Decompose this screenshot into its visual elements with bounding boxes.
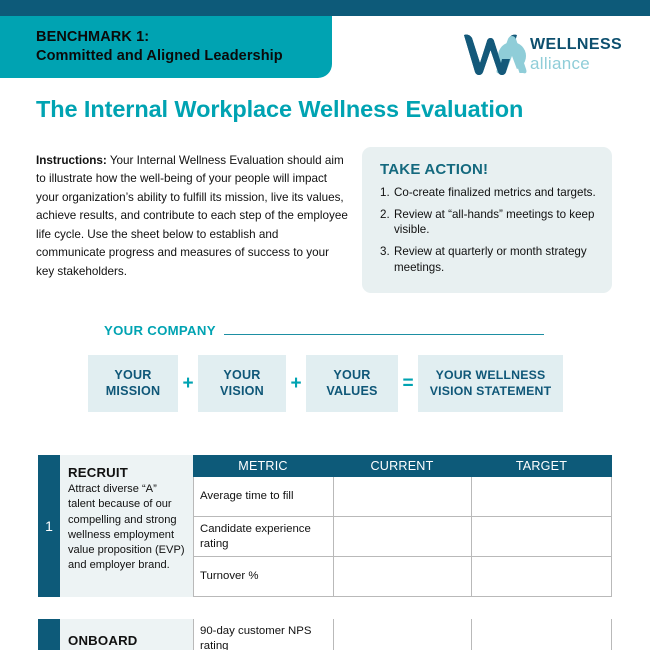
column-header-current: CURRENT (333, 455, 471, 477)
instructions-paragraph: Instructions: Your Internal Wellness Eva… (36, 152, 348, 281)
stage-blurb: Attract diverse “A” talent because of ou… (68, 482, 185, 574)
list-item-number: 2. (380, 207, 394, 238)
table-row: Candidate experience rating (193, 517, 612, 557)
your-vision-line2: VISION (220, 384, 264, 398)
take-action-panel: TAKE ACTION! 1. Co-create finalized metr… (362, 147, 612, 293)
stage-name: RECRUIT (68, 465, 185, 480)
list-item-number: 3. (380, 244, 394, 275)
column-header-metric: METRIC (193, 455, 333, 477)
metrics-grid: METRIC CURRENT TARGET Average time to fi… (193, 455, 612, 597)
list-item: 2. Review at “all-hands” meetings to kee… (380, 207, 596, 238)
stage-number: 1 (38, 455, 60, 597)
list-item: 1. Co-create finalized metrics and targe… (380, 185, 596, 201)
current-value-cell[interactable] (334, 517, 472, 557)
stage-number (38, 619, 60, 650)
list-item-text: Co-create finalized metrics and targets. (394, 185, 596, 201)
target-value-cell[interactable] (472, 517, 612, 557)
your-company-label: YOUR COMPANY (104, 323, 216, 338)
plus-operator-1: + (178, 355, 198, 412)
worksheet-page: BENCHMARK 1: Committed and Aligned Leade… (0, 0, 650, 650)
target-value-cell[interactable] (472, 477, 612, 517)
take-action-list: 1. Co-create finalized metrics and targe… (380, 185, 596, 275)
column-header-target: TARGET (471, 455, 612, 477)
wellness-alliance-logo: WELLNESS alliance (462, 32, 614, 78)
top-accent-bar (0, 0, 650, 16)
your-company-row: YOUR COMPANY (104, 323, 544, 338)
your-mission-line2: MISSION (106, 384, 161, 398)
stage-name: ONBOARD (68, 633, 185, 648)
wellness-vision-equation: YOUR MISSION + YOUR VISION + YOUR VALUES… (88, 355, 563, 412)
your-values-box: YOUR VALUES (306, 355, 398, 412)
metrics-grid: 90-day customer NPS rating (193, 619, 612, 650)
wellness-vision-line1: YOUR WELLNESS (436, 368, 546, 382)
metric-name-cell: 90-day customer NPS rating (194, 619, 334, 650)
your-vision-box: YOUR VISION (198, 355, 286, 412)
stage-description-cell: ONBOARD (60, 619, 193, 650)
stage-block-onboard: ONBOARD 90-day customer NPS rating (38, 619, 612, 650)
current-value-cell[interactable] (334, 619, 472, 650)
list-item-number: 1. (380, 185, 394, 201)
metric-name-cell: Turnover % (194, 557, 334, 597)
your-values-line2: VALUES (326, 384, 377, 398)
metric-name-cell: Average time to fill (194, 477, 334, 517)
your-company-input[interactable] (224, 334, 544, 335)
metrics-table: 1 RECRUIT Attract diverse “A” talent bec… (38, 455, 612, 650)
table-row: Average time to fill (193, 477, 612, 517)
logo-wellness-text: WELLNESS (530, 37, 622, 53)
your-vision-line1: YOUR (223, 368, 260, 382)
table-row: 90-day customer NPS rating (193, 619, 612, 650)
wellness-vision-statement-box: YOUR WELLNESS VISION STATEMENT (418, 355, 563, 412)
instructions-body: Your Internal Wellness Evaluation should… (36, 154, 348, 278)
table-row: Turnover % (193, 557, 612, 597)
plus-operator-2: + (286, 355, 306, 412)
your-values-line1: YOUR (333, 368, 370, 382)
equals-operator: = (398, 355, 418, 412)
current-value-cell[interactable] (334, 477, 472, 517)
metrics-header-row: METRIC CURRENT TARGET (193, 455, 612, 477)
list-item-text: Review at “all-hands” meetings to keep v… (394, 207, 596, 238)
target-value-cell[interactable] (472, 557, 612, 597)
your-mission-line1: YOUR (114, 368, 151, 382)
benchmark-title: Committed and Aligned Leadership (36, 47, 283, 66)
wa-monogram-icon (462, 32, 530, 76)
metric-name-cell: Candidate experience rating (194, 517, 334, 557)
wellness-vision-line2: VISION STATEMENT (430, 384, 552, 398)
page-title: The Internal Workplace Wellness Evaluati… (36, 96, 523, 123)
stage-description-cell: RECRUIT Attract diverse “A” talent becau… (60, 455, 193, 597)
stage-block-recruit: 1 RECRUIT Attract diverse “A” talent bec… (38, 455, 612, 597)
logo-alliance-text: alliance (530, 55, 622, 72)
logo-wordmark: WELLNESS alliance (530, 37, 622, 72)
benchmark-banner: BENCHMARK 1: Committed and Aligned Leade… (0, 16, 332, 78)
target-value-cell[interactable] (472, 619, 612, 650)
take-action-title: TAKE ACTION! (380, 161, 596, 178)
benchmark-label: BENCHMARK 1: (36, 28, 283, 47)
list-item-text: Review at quarterly or month strategy me… (394, 244, 596, 275)
current-value-cell[interactable] (334, 557, 472, 597)
benchmark-banner-text: BENCHMARK 1: Committed and Aligned Leade… (0, 28, 283, 65)
instructions-label: Instructions: (36, 154, 107, 167)
your-mission-box: YOUR MISSION (88, 355, 178, 412)
list-item: 3. Review at quarterly or month strategy… (380, 244, 596, 275)
